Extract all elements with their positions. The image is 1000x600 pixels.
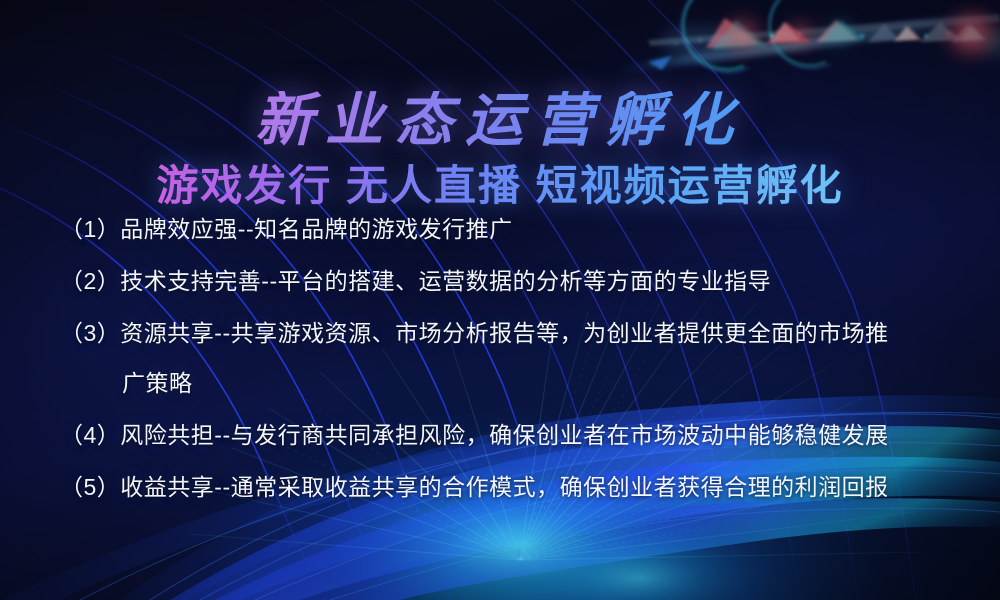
list-item: （1）品牌效应强--知名品牌的游戏发行推广	[60, 215, 960, 244]
bullet-text-wrap: 广策略	[60, 369, 960, 398]
bullet-text: （1）品牌效应强--知名品牌的游戏发行推广	[60, 216, 513, 242]
list-item: （3）资源共享--共享游戏资源、市场分析报告等，为创业者提供更全面的市场推 广策…	[60, 319, 960, 399]
page-title: 新业态运营孵化	[0, 91, 1000, 149]
bullet-text: （4）风险共担--与发行商共同承担风险，确保创业者在市场波动中能够稳健发展	[60, 422, 889, 448]
list-item: （4）风险共担--与发行商共同承担风险，确保创业者在市场波动中能够稳健发展	[60, 421, 960, 450]
bullet-text: （2）技术支持完善--平台的搭建、运营数据的分析等方面的专业指导	[60, 268, 771, 294]
presentation-slide: 新业态运营孵化 游戏发行 无人直播 短视频运营孵化 （1）品牌效应强--知名品牌…	[0, 0, 1000, 600]
list-item: （5）收益共享--通常采取收益共享的合作模式，确保创业者获得合理的利润回报	[60, 473, 960, 502]
bullet-text: （5）收益共享--通常采取收益共享的合作模式，确保创业者获得合理的利润回报	[60, 474, 889, 500]
list-item: （2）技术支持完善--平台的搭建、运营数据的分析等方面的专业指导	[60, 267, 960, 296]
bullet-text: （3）资源共享--共享游戏资源、市场分析报告等，为创业者提供更全面的市场推	[60, 320, 889, 346]
bullet-list: （1）品牌效应强--知名品牌的游戏发行推广 （2）技术支持完善--平台的搭建、运…	[60, 192, 960, 525]
slide-content: 新业态运营孵化 游戏发行 无人直播 短视频运营孵化 （1）品牌效应强--知名品牌…	[0, 0, 1000, 600]
